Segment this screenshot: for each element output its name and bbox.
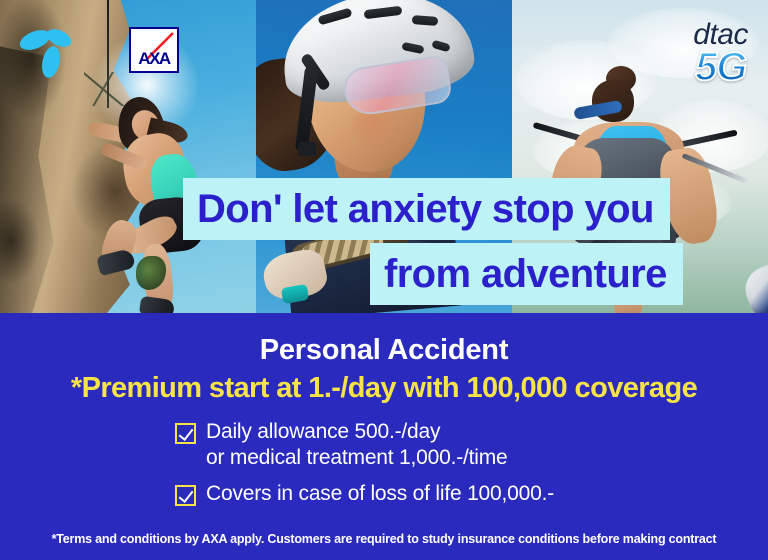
checkbox-checked-icon (175, 485, 196, 506)
axa-wordmark: AXA (131, 50, 177, 67)
headline-line-1: Don' let anxiety stop you (183, 178, 670, 240)
headline: Don' let anxiety stop you from adventure (0, 178, 768, 305)
helmet-vent (412, 15, 439, 26)
checkbox-checked-icon (175, 423, 196, 444)
benefit-sub-text: or medical treatment 1,000.-/time (206, 445, 508, 471)
benefit-main-text: Daily allowance 500.-/day (206, 420, 440, 443)
benefit-text: Covers in case of loss of life 100,000.- (206, 481, 554, 507)
benefit-item: Covers in case of loss of life 100,000.- (175, 481, 768, 507)
5g-badge: 5G (693, 48, 748, 87)
premium-price-line: *Premium start at 1.-/day with 100,000 c… (0, 373, 768, 405)
benefits-list: Daily allowance 500.-/day or medical tre… (0, 419, 768, 508)
benefit-text: Daily allowance 500.-/day or medical tre… (206, 419, 508, 472)
axa-logo: AXA (129, 27, 179, 73)
benefit-item: Daily allowance 500.-/day or medical tre… (175, 419, 768, 472)
dtac-propeller-icon (18, 18, 78, 78)
dtac-5g-logo: dtac 5G (693, 20, 748, 87)
offer-panel: Personal Accident *Premium start at 1.-/… (0, 313, 768, 560)
headline-line-2: from adventure (370, 243, 683, 305)
benefit-main-text: Covers in case of loss of life 100,000.- (206, 482, 554, 505)
product-title: Personal Accident (0, 313, 768, 367)
terms-disclaimer: *Terms and conditions by AXA apply. Cust… (0, 532, 768, 546)
advertisement-banner: AXA dtac 5G Don' let anxiety stop you fr… (0, 0, 768, 560)
helmet-buckle (298, 142, 316, 156)
